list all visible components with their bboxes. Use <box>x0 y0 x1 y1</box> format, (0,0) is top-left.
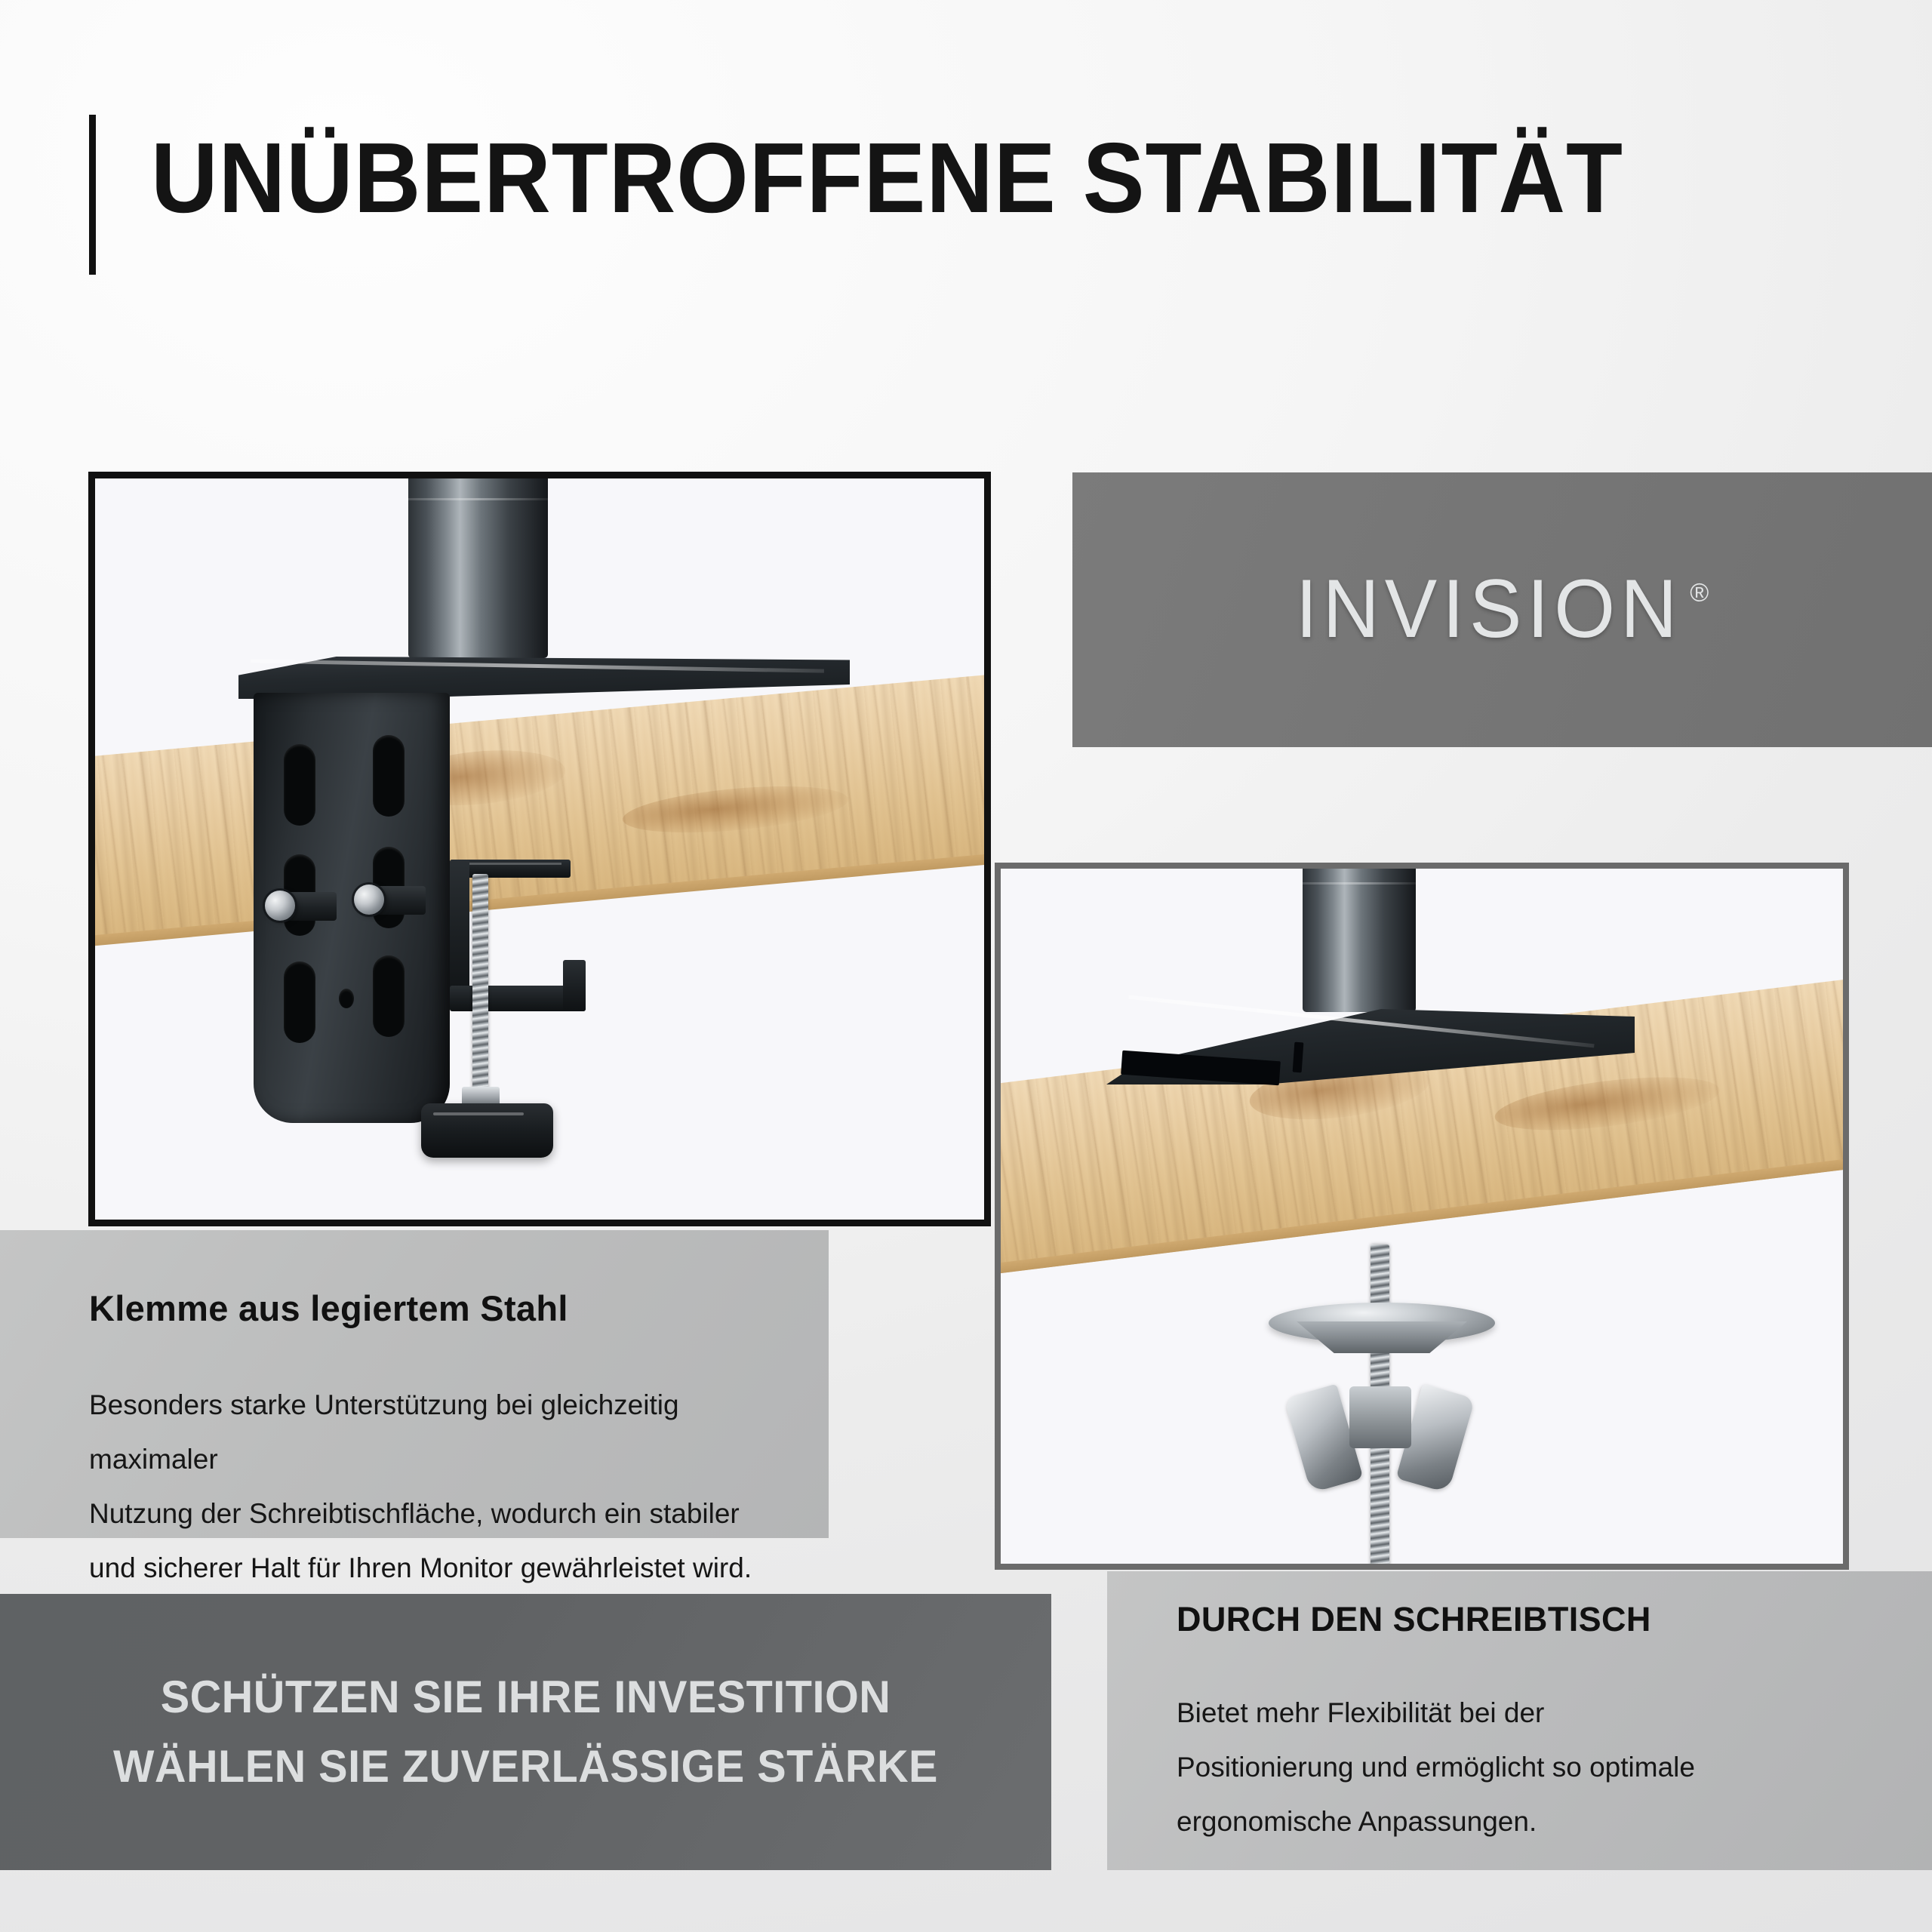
clamp-section-heading: Klemme aus legiertem Stahl <box>89 1287 568 1329</box>
clamp-jaw-highlight <box>456 863 561 865</box>
cta-text-block: SCHÜTZEN SIE IHRE INVESTITION WÄHLEN SIE… <box>0 1663 1051 1801</box>
small-pin-hole <box>339 989 354 1008</box>
keyhole-slot <box>284 961 315 1043</box>
brand-logo-text: INVISION <box>1296 563 1683 657</box>
grommet-section-heading: DURCH DEN SCHREIBTISCH <box>1177 1600 1651 1639</box>
body-line: ergonomische Anpassungen. <box>1177 1795 1871 1849</box>
wing-nut-body <box>1349 1386 1411 1448</box>
keyhole-slot <box>373 955 405 1037</box>
monitor-post <box>1303 863 1416 1012</box>
page-title: UNÜBERTROFFENE STABILITÄT <box>151 128 1623 228</box>
body-line: Besonders starke Unterstützung bei gleic… <box>89 1378 768 1487</box>
cta-line: WÄHLEN SIE ZUVERLÄSSIGE STÄRKE <box>21 1732 1030 1801</box>
body-line: Positionierung und ermöglicht so optimal… <box>1177 1740 1871 1795</box>
post-highlight-band <box>1303 882 1416 884</box>
cta-line: SCHÜTZEN SIE IHRE INVESTITION <box>21 1663 1030 1732</box>
grommet-section-body: Bietet mehr Flexibilität bei der Positio… <box>1177 1686 1871 1849</box>
washer-skirt <box>1297 1321 1467 1353</box>
body-line: Bietet mehr Flexibilität bei der <box>1177 1686 1871 1740</box>
registered-trademark-icon: ® <box>1690 579 1709 608</box>
brand-logo: INVISION® <box>1072 565 1932 655</box>
infographic-page: UNÜBERTROFFENE STABILITÄT <box>0 0 1932 1932</box>
keyhole-slot <box>373 735 405 817</box>
grommet-description-panel: DURCH DEN SCHREIBTISCH Bietet mehr Flexi… <box>1107 1571 1932 1870</box>
clamp-tightening-knob <box>421 1103 553 1158</box>
call-to-action-panel: SCHÜTZEN SIE IHRE INVESTITION WÄHLEN SIE… <box>0 1594 1051 1870</box>
grommet-mount-photo <box>995 863 1849 1570</box>
clamp-description-panel: Klemme aus legiertem Stahl Besonders sta… <box>0 1230 829 1538</box>
wood-knot <box>1492 1067 1722 1140</box>
wood-knot <box>621 779 851 841</box>
keyhole-slot <box>284 744 315 826</box>
hex-bolt-head <box>354 884 384 915</box>
clamp-jaw-lip <box>563 960 586 1011</box>
post-highlight-band <box>408 498 548 500</box>
photo-stage <box>1001 869 1843 1564</box>
title-accent-bar <box>89 115 96 275</box>
clamp-section-body: Besonders starke Unterstützung bei gleic… <box>89 1378 768 1595</box>
photo-stage <box>95 478 984 1220</box>
clamp-threaded-screw <box>472 874 488 1100</box>
hex-bolt-head <box>265 891 295 921</box>
body-line: Nutzung der Schreibtischfläche, wodurch … <box>89 1487 768 1541</box>
body-line: und sicherer Halt für Ihren Monitor gewä… <box>89 1541 768 1595</box>
desk-clamp-photo <box>88 472 991 1226</box>
brand-logo-panel: INVISION® <box>1072 472 1932 747</box>
knob-highlight <box>433 1112 524 1115</box>
